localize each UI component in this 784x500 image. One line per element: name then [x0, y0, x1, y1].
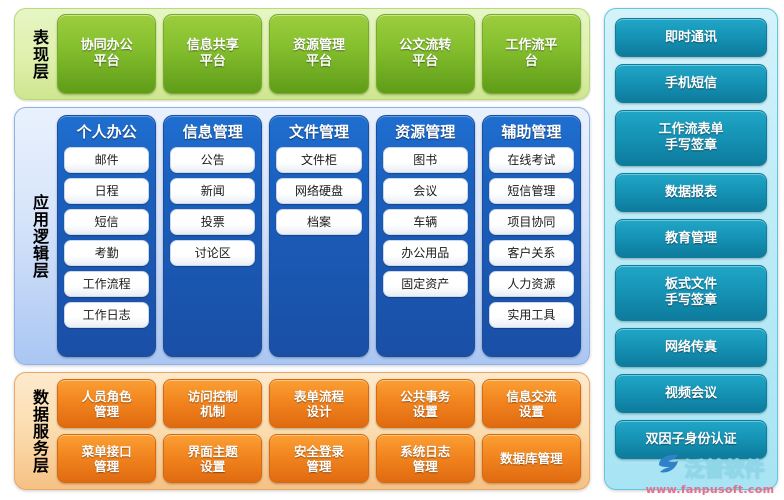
application-column-items: 公告新闻投票讨论区 [170, 147, 255, 266]
application-module-chip[interactable]: 项目协同 [489, 209, 574, 235]
extras-module-chip[interactable]: 网络传真 [615, 328, 767, 367]
application-module-chip[interactable]: 客户关系 [489, 240, 574, 266]
data-service-chip[interactable]: 人员角色管理 [57, 379, 156, 428]
application-module-chip[interactable]: 实用工具 [489, 302, 574, 328]
extras-module-chip[interactable]: 手机短信 [615, 64, 767, 103]
application-column: 信息管理公告新闻投票讨论区 [163, 115, 262, 357]
application-module-chip[interactable]: 网络硬盘 [276, 178, 361, 204]
application-column: 文件管理文件柜网络硬盘档案 [269, 115, 368, 357]
application-module-chip[interactable]: 讨论区 [170, 240, 255, 266]
application-module-chip[interactable]: 固定资产 [383, 271, 468, 297]
data-service-chip[interactable]: 安全登录管理 [269, 434, 368, 483]
application-module-chip[interactable]: 图书 [383, 147, 468, 173]
application-module-chip[interactable]: 短信 [64, 209, 149, 235]
presentation-platform-chip[interactable]: 信息共享平台 [163, 14, 262, 94]
data-service-chip[interactable]: 系统日志管理 [376, 434, 475, 483]
data-service-layer: 数据服务层 人员角色管理访问控制机制表单流程设计公共事务设置信息交流设置菜单接口… [14, 372, 590, 490]
application-column-items: 邮件日程短信考勤工作流程工作日志 [64, 147, 149, 328]
application-module-chip[interactable]: 工作流程 [64, 271, 149, 297]
data-service-chip[interactable]: 信息交流设置 [482, 379, 581, 428]
application-module-chip[interactable]: 邮件 [64, 147, 149, 173]
application-column: 个人办公邮件日程短信考勤工作流程工作日志 [57, 115, 156, 357]
application-column-title: 信息管理 [170, 121, 255, 143]
extras-module-chip[interactable]: 教育管理 [615, 219, 767, 258]
data-service-chip[interactable]: 界面主题设置 [163, 434, 262, 483]
data-service-chip[interactable]: 表单流程设计 [269, 379, 368, 428]
extras-module-chip[interactable]: 板式文件手写签章 [615, 265, 767, 321]
presentation-platform-chip[interactable]: 协同办公平台 [57, 14, 156, 94]
extras-module-chip[interactable]: 数据报表 [615, 173, 767, 212]
presentation-layer: 表现层 协同办公平台信息共享平台资源管理平台公文流转平台工作流平台 [14, 8, 590, 100]
application-module-chip[interactable]: 文件柜 [276, 147, 361, 173]
application-logic-columns: 个人办公邮件日程短信考勤工作流程工作日志信息管理公告新闻投票讨论区文件管理文件柜… [57, 115, 581, 357]
application-column-items: 在线考试短信管理项目协同客户关系人力资源实用工具 [489, 147, 574, 328]
application-module-chip[interactable]: 新闻 [170, 178, 255, 204]
application-module-chip[interactable]: 短信管理 [489, 178, 574, 204]
application-column-items: 文件柜网络硬盘档案 [276, 147, 361, 235]
application-module-chip[interactable]: 车辆 [383, 209, 468, 235]
application-column-items: 图书会议车辆办公用品固定资产 [383, 147, 468, 297]
application-logic-layer-label: 应用逻辑层 [25, 194, 51, 279]
application-module-chip[interactable]: 会议 [383, 178, 468, 204]
application-module-chip[interactable]: 考勤 [64, 240, 149, 266]
application-module-chip[interactable]: 档案 [276, 209, 361, 235]
application-module-chip[interactable]: 日程 [64, 178, 149, 204]
application-module-chip[interactable]: 人力资源 [489, 271, 574, 297]
presentation-platform-chip[interactable]: 工作流平台 [482, 14, 581, 94]
application-column-title: 文件管理 [276, 121, 361, 143]
application-column-title: 资源管理 [383, 121, 468, 143]
data-service-layer-label: 数据服务层 [25, 389, 51, 474]
application-module-chip[interactable]: 在线考试 [489, 147, 574, 173]
extras-module-chip[interactable]: 视频会议 [615, 374, 767, 413]
data-service-chip[interactable]: 菜单接口管理 [57, 434, 156, 483]
application-column: 资源管理图书会议车辆办公用品固定资产 [376, 115, 475, 357]
presentation-layer-label: 表现层 [25, 29, 51, 80]
architecture-diagram: 表现层 协同办公平台信息共享平台资源管理平台公文流转平台工作流平台 应用逻辑层 … [0, 0, 784, 500]
application-column: 辅助管理在线考试短信管理项目协同客户关系人力资源实用工具 [482, 115, 581, 357]
application-logic-layer: 应用逻辑层 个人办公邮件日程短信考勤工作流程工作日志信息管理公告新闻投票讨论区文… [14, 107, 590, 365]
data-service-layer-items: 人员角色管理访问控制机制表单流程设计公共事务设置信息交流设置菜单接口管理界面主题… [57, 379, 581, 483]
data-service-chip[interactable]: 公共事务设置 [376, 379, 475, 428]
application-column-title: 辅助管理 [489, 121, 574, 143]
presentation-platform-chip[interactable]: 公文流转平台 [376, 14, 475, 94]
data-service-chip[interactable]: 数据库管理 [482, 434, 581, 483]
presentation-platform-chip[interactable]: 资源管理平台 [269, 14, 368, 94]
application-module-chip[interactable]: 公告 [170, 147, 255, 173]
application-column-title: 个人办公 [64, 121, 149, 143]
application-module-chip[interactable]: 工作日志 [64, 302, 149, 328]
extras-panel: 即时通讯手机短信工作流表单手写签章数据报表教育管理板式文件手写签章网络传真视频会… [604, 8, 778, 490]
extras-module-chip[interactable]: 即时通讯 [615, 18, 767, 57]
application-module-chip[interactable]: 办公用品 [383, 240, 468, 266]
extras-module-chip[interactable]: 工作流表单手写签章 [615, 110, 767, 166]
presentation-layer-items: 协同办公平台信息共享平台资源管理平台公文流转平台工作流平台 [57, 15, 581, 93]
extras-module-chip[interactable]: 双因子身份认证 [615, 420, 767, 459]
application-module-chip[interactable]: 投票 [170, 209, 255, 235]
data-service-chip[interactable]: 访问控制机制 [163, 379, 262, 428]
